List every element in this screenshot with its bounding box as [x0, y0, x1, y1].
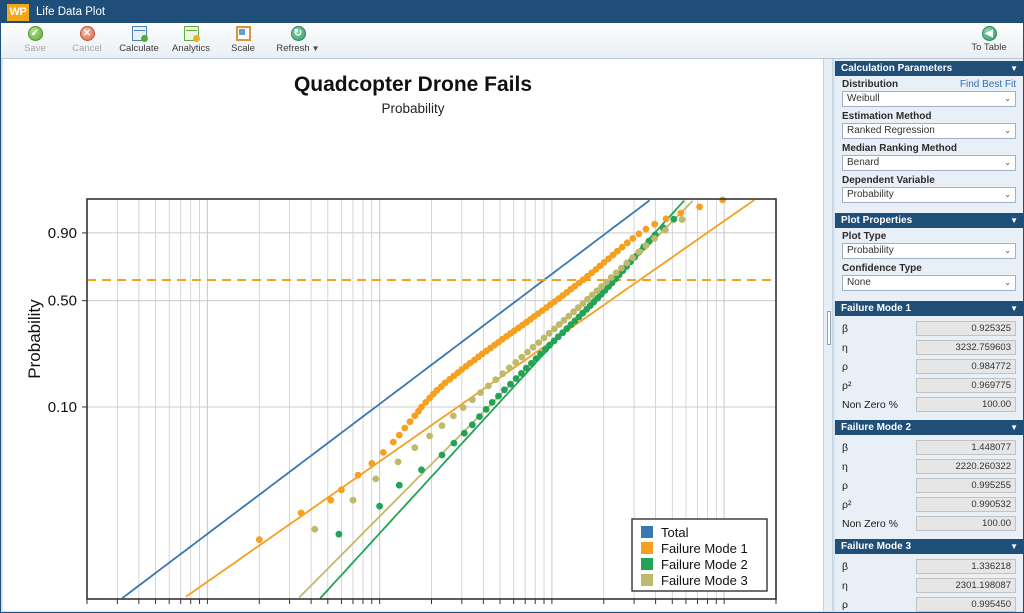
data-point — [643, 226, 650, 233]
life-data-plot-window: WP Life Data Plot ✓Save✕CancelCalculateA… — [0, 0, 1024, 613]
x-tick-label: 2 — [83, 609, 91, 611]
chevron-down-icon[interactable]: ⌄ — [1004, 92, 1011, 106]
data-point — [643, 242, 650, 249]
chevron-down-icon[interactable]: ⌄ — [1004, 156, 1011, 170]
data-point — [608, 274, 615, 281]
data-point — [418, 466, 425, 473]
data-point — [495, 393, 502, 400]
data-point — [350, 497, 357, 504]
section-header-failure-mode-3[interactable]: Failure Mode 3▼ — [835, 539, 1023, 554]
parameter-key: η — [842, 342, 916, 354]
parameter-row: β1.336218 — [842, 557, 1016, 576]
data-point — [368, 460, 375, 467]
parameter-value: 100.00 — [916, 516, 1016, 531]
x-tick-label: 10000 — [703, 609, 745, 611]
section-title: Failure Mode 1 — [841, 303, 911, 314]
section-title: Failure Mode 2 — [841, 422, 911, 433]
data-point — [651, 221, 658, 228]
data-point — [518, 370, 525, 377]
select-estimation-method[interactable]: Ranked Regression⌄ — [842, 123, 1016, 139]
parameter-key: β — [842, 442, 916, 454]
section-body-failure-mode-3: β1.336218η2301.198087ρ0.995450ρ²0.990920… — [835, 554, 1023, 613]
select-value: Weibull — [847, 93, 880, 104]
legend-label: Failure Mode 1 — [661, 541, 748, 556]
data-point — [679, 216, 686, 223]
data-point — [507, 381, 514, 388]
parameter-value: 0.995255 — [916, 478, 1016, 493]
data-point — [719, 197, 726, 204]
parameter-value: 0.969775 — [916, 378, 1016, 393]
data-point — [380, 449, 387, 456]
data-point — [338, 486, 345, 493]
legend-swatch — [641, 574, 653, 586]
data-point — [311, 526, 318, 533]
field-label: Confidence Type — [842, 263, 922, 274]
window-title-bar: WP Life Data Plot — [1, 1, 1023, 23]
parameter-key: ρ — [842, 480, 916, 492]
scale-icon — [236, 25, 251, 42]
data-point — [426, 433, 433, 440]
back-arrow-icon: ◀ — [982, 26, 997, 41]
legend-swatch — [641, 558, 653, 570]
chevron-down-icon[interactable]: ⌄ — [1004, 244, 1011, 258]
chevron-down-icon[interactable]: ⌄ — [1004, 188, 1011, 202]
data-point — [469, 396, 476, 403]
chart-pane: Quadcopter Drone Fails Probability Proba… — [3, 59, 823, 611]
data-point — [336, 531, 343, 538]
chevron-down-icon[interactable]: ▼ — [1010, 542, 1018, 551]
toolbar-button-label: Refresh — [276, 43, 309, 54]
data-point — [372, 476, 379, 483]
parameter-value: 0.990532 — [916, 497, 1016, 512]
panel-splitter[interactable] — [823, 59, 833, 611]
data-point — [396, 432, 403, 439]
select-median-ranking-method[interactable]: Benard⌄ — [842, 155, 1016, 171]
y-tick-label: 0.50 — [48, 293, 77, 310]
chevron-down-icon[interactable]: ⌄ — [1004, 276, 1011, 290]
select-dependent-variable[interactable]: Probability⌄ — [842, 187, 1016, 203]
parameter-key: η — [842, 580, 916, 592]
data-point — [483, 406, 490, 413]
data-point — [460, 404, 467, 411]
main-toolbar: ✓Save✕CancelCalculateAnalyticsScale↻Refr… — [1, 23, 1023, 59]
data-point — [396, 482, 403, 489]
cancel-x-icon: ✕ — [80, 25, 95, 42]
toolbar-button-label: Analytics — [172, 43, 210, 54]
toolbar-button-save: ✓Save — [9, 23, 61, 59]
y-tick-label: 0.10 — [48, 399, 77, 416]
data-point — [696, 204, 703, 211]
legend-label: Failure Mode 2 — [661, 557, 748, 572]
legend-swatch — [641, 542, 653, 554]
select-value: None — [847, 277, 871, 288]
data-point — [499, 370, 506, 377]
field-label: Estimation Method — [842, 111, 931, 122]
x-tick-label: 1000 — [535, 609, 568, 611]
data-point — [618, 265, 625, 272]
analytics-icon — [184, 25, 199, 42]
data-point — [513, 375, 520, 382]
data-point — [651, 235, 658, 242]
field-label: Median Ranking Method — [842, 143, 957, 154]
parameter-row: η2301.198087 — [842, 576, 1016, 595]
data-point — [489, 399, 496, 406]
data-point — [492, 376, 499, 383]
data-point — [535, 339, 542, 346]
parameter-row: ρ²0.969775 — [842, 376, 1016, 395]
parameter-key: ρ — [842, 361, 916, 373]
parameter-row: Non Zero %100.00 — [842, 395, 1016, 414]
data-point — [256, 536, 263, 543]
data-point — [541, 335, 548, 342]
data-point — [476, 413, 483, 420]
save-check-icon: ✓ — [28, 25, 43, 42]
parameter-row: ρ0.984772 — [842, 357, 1016, 376]
chevron-down-icon[interactable]: ▼ — [1010, 216, 1018, 225]
data-point — [670, 216, 677, 223]
section-title: Calculation Parameters — [841, 63, 952, 74]
data-point — [624, 239, 631, 246]
data-point — [298, 510, 305, 517]
data-point — [662, 227, 669, 234]
section-header-failure-mode-1[interactable]: Failure Mode 1▼ — [835, 301, 1023, 316]
data-point — [530, 344, 537, 351]
data-point — [485, 383, 492, 390]
data-point — [629, 254, 636, 261]
parameter-value: 100.00 — [916, 397, 1016, 412]
parameter-value: 1.448077 — [916, 440, 1016, 455]
field-row: Confidence Type — [842, 263, 1016, 274]
parameter-value: 0.995450 — [916, 597, 1016, 612]
section-body-calculation-parameters: DistributionFind Best FitWeibull⌄Estimat… — [835, 76, 1023, 211]
toolbar-button-refresh[interactable]: ↻Refresh▼ — [269, 23, 327, 59]
toolbar-button-label: Cancel — [72, 43, 102, 54]
data-point — [450, 413, 457, 420]
data-point — [461, 430, 468, 437]
data-point — [355, 472, 362, 479]
probability-plot[interactable]: 2101001000100000.100.500.90TotalFailure … — [3, 59, 823, 611]
parameter-key: Non Zero % — [842, 399, 916, 411]
find-best-fit-link[interactable]: Find Best Fit — [960, 79, 1016, 90]
legend-label: Total — [661, 525, 689, 540]
to-table-label: To Table — [971, 42, 1006, 53]
data-point — [411, 444, 418, 451]
parameter-value: 3232.759603 — [916, 340, 1016, 355]
section-body-failure-mode-2: β1.448077η2220.260322ρ0.995255ρ²0.990532… — [835, 435, 1023, 537]
parameter-row: β1.448077 — [842, 438, 1016, 457]
parameter-key: β — [842, 323, 916, 335]
data-point — [477, 389, 484, 396]
x-tick-label: 10 — [199, 609, 216, 611]
parameter-row: ρ²0.990532 — [842, 495, 1016, 514]
legend-label: Failure Mode 3 — [661, 573, 748, 588]
select-confidence-type[interactable]: None⌄ — [842, 275, 1016, 291]
parameter-row: Non Zero %100.00 — [842, 514, 1016, 533]
parameter-row: β0.925325 — [842, 319, 1016, 338]
data-point — [613, 270, 620, 277]
section-header-calculation-parameters[interactable]: Calculation Parameters▼ — [835, 61, 1023, 76]
parameter-key: ρ² — [842, 380, 916, 392]
chevron-down-icon[interactable]: ⌄ — [1004, 124, 1011, 138]
data-point — [469, 421, 476, 428]
data-point — [501, 386, 508, 393]
select-plot-type[interactable]: Probability⌄ — [842, 243, 1016, 259]
select-value: Ranked Regression — [847, 125, 935, 136]
calculate-icon — [132, 25, 147, 42]
parameter-row: η3232.759603 — [842, 338, 1016, 357]
data-point — [390, 439, 397, 446]
data-point — [512, 359, 519, 366]
field-label: Distribution — [842, 79, 898, 90]
data-point — [395, 459, 402, 466]
chevron-down-icon[interactable]: ▼ — [312, 44, 320, 53]
field-row: Median Ranking Method — [842, 143, 1016, 154]
data-point — [506, 365, 513, 372]
toolbar-button-label: Save — [24, 43, 46, 54]
y-tick-label: 0.90 — [48, 225, 77, 242]
section-header-failure-mode-2[interactable]: Failure Mode 2▼ — [835, 420, 1023, 435]
parameter-value: 2220.260322 — [916, 459, 1016, 474]
data-point — [623, 260, 630, 267]
toolbar-button-cancel: ✕Cancel — [61, 23, 113, 59]
parameter-row: ρ0.995255 — [842, 476, 1016, 495]
data-point — [636, 231, 643, 238]
parameter-key: β — [842, 561, 916, 573]
data-point — [376, 503, 383, 510]
app-logo: WP — [7, 4, 29, 21]
parameter-value: 0.984772 — [916, 359, 1016, 374]
data-point — [518, 354, 525, 361]
select-value: Probability — [847, 189, 894, 200]
properties-panel: Calculation Parameters▼DistributionFind … — [835, 59, 1023, 611]
select-distribution[interactable]: Weibull⌄ — [842, 91, 1016, 107]
data-point — [663, 215, 670, 222]
data-point — [523, 365, 530, 372]
select-value: Benard — [847, 157, 879, 168]
data-point — [407, 418, 414, 425]
data-point — [439, 422, 446, 429]
toolbar-button-label: Calculate — [119, 43, 159, 54]
parameter-value: 1.336218 — [916, 559, 1016, 574]
to-table-button[interactable]: ◀ To Table — [961, 24, 1017, 58]
field-label: Dependent Variable — [842, 175, 935, 186]
field-row: Plot Type — [842, 231, 1016, 242]
toolbar-button-calculate[interactable]: Calculate — [113, 23, 165, 59]
section-title: Failure Mode 3 — [841, 541, 911, 552]
toolbar-button-analytics[interactable]: Analytics — [165, 23, 217, 59]
data-point — [636, 249, 643, 256]
x-tick-label: 100 — [367, 609, 392, 611]
data-point — [629, 235, 636, 242]
parameter-value: 2301.198087 — [916, 578, 1016, 593]
field-label: Plot Type — [842, 231, 886, 242]
chevron-down-icon[interactable]: ▼ — [1010, 304, 1018, 313]
parameter-key: ρ² — [842, 499, 916, 511]
data-point — [677, 210, 684, 217]
parameter-row: ρ0.995450 — [842, 595, 1016, 613]
splitter-grip[interactable] — [827, 311, 831, 345]
data-point — [439, 452, 446, 459]
data-point — [327, 497, 334, 504]
window-title: Life Data Plot — [36, 6, 105, 18]
parameter-key: Non Zero % — [842, 518, 916, 530]
section-body-plot-properties: Plot TypeProbability⌄Confidence TypeNone… — [835, 228, 1023, 299]
parameter-row: η2220.260322 — [842, 457, 1016, 476]
data-point — [401, 425, 408, 432]
data-point — [524, 349, 531, 356]
parameter-key: η — [842, 461, 916, 473]
chevron-down-icon[interactable]: ▼ — [1010, 64, 1018, 73]
section-title: Plot Properties — [841, 215, 912, 226]
field-row: DistributionFind Best Fit — [842, 79, 1016, 90]
section-body-failure-mode-1: β0.925325η3232.759603ρ0.984772ρ²0.969775… — [835, 316, 1023, 418]
toolbar-button-label: Scale — [231, 43, 255, 54]
chevron-down-icon[interactable]: ▼ — [1010, 423, 1018, 432]
toolbar-button-scale[interactable]: Scale — [217, 23, 269, 59]
parameter-key: ρ — [842, 599, 916, 611]
field-row: Estimation Method — [842, 111, 1016, 122]
parameter-value: 0.925325 — [916, 321, 1016, 336]
data-point — [451, 440, 458, 447]
select-value: Probability — [847, 245, 894, 256]
section-header-plot-properties[interactable]: Plot Properties▼ — [835, 213, 1023, 228]
field-row: Dependent Variable — [842, 175, 1016, 186]
refresh-icon: ↻ — [291, 25, 306, 42]
legend-swatch — [641, 526, 653, 538]
